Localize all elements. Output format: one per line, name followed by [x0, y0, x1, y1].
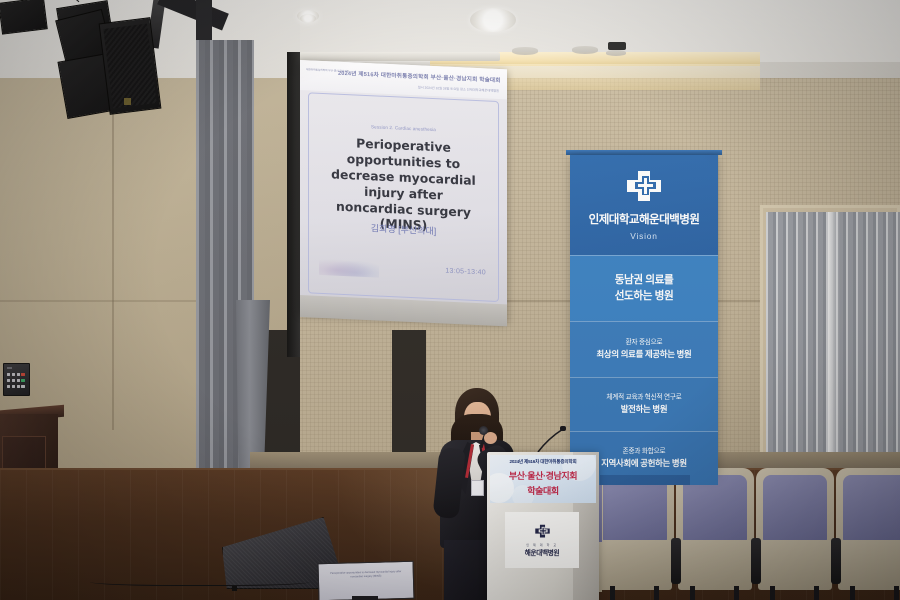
hospital-vision-banner: 인제대학교해운대백병원 Vision 동남권 의료를 선도하는 병원 환자 중심… — [570, 155, 718, 475]
chair-leg — [770, 586, 775, 600]
panel-button[interactable] — [7, 379, 10, 382]
banner-section-4-line-1: 존중과 화합으로 — [623, 447, 666, 457]
chair-leg — [814, 586, 819, 600]
chair-leg — [654, 586, 659, 600]
confidence-monitor-stand — [352, 596, 378, 600]
recessed-downlight — [300, 14, 316, 23]
auditorium-chair[interactable] — [676, 468, 754, 600]
ceiling-vent — [606, 50, 626, 56]
auditorium-chair[interactable] — [756, 468, 834, 600]
panel-button-row[interactable] — [7, 379, 25, 382]
panel-button[interactable] — [21, 385, 24, 388]
speaker-brand-badge — [124, 98, 131, 105]
banner-hospital-name: 인제대학교해운대백병원 — [570, 211, 718, 227]
projection-screen: 대한마취통증의학회 부산·울산·경남지회 2024년 제516차 대한마취통증의… — [300, 60, 507, 322]
banner-section-2: 환자 중심으로 최상의 의료를 제공하는 병원 — [570, 321, 718, 377]
chair-leg — [690, 586, 695, 600]
podium-logo-hospital: 해운대백병원 — [525, 547, 560, 557]
panel-button[interactable] — [12, 385, 15, 388]
ceiling-vent — [572, 46, 598, 54]
chair-seat — [678, 540, 752, 590]
chair-seat — [598, 540, 672, 590]
av-control-panel[interactable] — [3, 363, 30, 396]
ceiling-vent — [512, 47, 538, 55]
panel-button[interactable] — [17, 373, 20, 376]
slide-session-label: Session 2. Cardiac anesthesia — [309, 121, 498, 135]
banner-section-1: 동남권 의료를 선도하는 병원 — [570, 255, 718, 321]
panel-button[interactable] — [7, 373, 10, 376]
banner-section-3-line-2: 발전하는 병원 — [621, 403, 667, 415]
panel-button[interactable] — [12, 379, 15, 382]
chair-seat — [838, 540, 900, 590]
banner-section-3-line-1: 체계적 교육과 혁신적 연구로 — [606, 393, 681, 403]
screen-roller-case — [300, 52, 500, 61]
banner-section-1-line-2: 선도하는 병원 — [615, 289, 674, 304]
chair-cushion — [843, 475, 900, 541]
screen-side-edge — [287, 52, 300, 357]
chair-leg — [850, 586, 855, 600]
confidence-monitor: Perioperative opportunities to decrease … — [318, 561, 415, 600]
chair-armrest — [831, 538, 841, 584]
confidence-monitor-text: Perioperative opportunities to decrease … — [327, 570, 405, 580]
panel-button-row[interactable] — [7, 385, 25, 388]
panel-display — [7, 367, 12, 369]
stage-cable — [90, 576, 310, 586]
banner-section-4-line-2: 지역사회에 공헌하는 병원 — [601, 457, 687, 469]
ceiling-speaker — [0, 0, 48, 35]
auditorium-chair[interactable] — [596, 468, 674, 600]
panel-button[interactable] — [17, 379, 20, 382]
slide-decoration — [319, 257, 379, 278]
panel-button[interactable] — [17, 385, 20, 388]
banner-section-2-line-1: 환자 중심으로 — [626, 338, 663, 348]
chair-armrest — [751, 538, 761, 584]
panel-button-active[interactable] — [21, 379, 24, 382]
chair-leg — [610, 586, 615, 600]
chair-leg — [734, 586, 739, 600]
banner-stand-base — [600, 475, 690, 485]
podium-hospital-logo: 인 제 대 학 교 해운대백병원 — [505, 512, 579, 568]
banner-header: 인제대학교해운대백병원 Vision — [570, 155, 718, 255]
panel-button[interactable] — [12, 373, 15, 376]
conference-hall-photo: 대한마취통증의학회 부산·울산·경남지회 2024년 제516차 대한마취통증의… — [0, 0, 900, 600]
presenter-name-badge — [471, 480, 484, 496]
podium-banner: 2024년 제516차 대한마취통증의학회 부산·울산·경남지회 학술대회 — [490, 455, 596, 503]
panel-button-power[interactable] — [21, 373, 24, 376]
banner-section-1-line-1: 동남권 의료를 — [615, 273, 674, 288]
podium-banner-line-3: 학술대회 — [490, 484, 596, 497]
ceiling-sensor-icon — [608, 42, 626, 50]
medical-cross-icon — [624, 169, 664, 205]
auditorium-chair[interactable] — [836, 468, 900, 600]
ceiling-truss — [196, 0, 212, 44]
panel-button[interactable] — [7, 385, 10, 388]
banner-subtitle: Vision — [570, 231, 718, 241]
podium-banner-line-2: 부산·울산·경남지회 — [490, 469, 596, 482]
medical-cross-icon — [534, 523, 551, 540]
panel-button-row[interactable] — [7, 373, 25, 376]
podium-microphone — [536, 426, 566, 454]
slide-time: 13:05-13:40 — [445, 268, 486, 277]
chair-seat — [758, 540, 832, 590]
chair-armrest — [671, 538, 681, 584]
podium-banner-line-1: 2024년 제516차 대한마취통증의학회 — [490, 459, 596, 465]
slide-content-frame: Session 2. Cardiac anesthesia Perioperat… — [308, 92, 499, 302]
recessed-downlight — [470, 8, 516, 32]
banner-section-3: 체계적 교육과 혁신적 연구로 발전하는 병원 — [570, 377, 718, 431]
microphone-icon — [479, 426, 488, 435]
monitor-foot — [232, 586, 237, 591]
chair-cushion — [763, 475, 827, 541]
chair-leg — [894, 586, 899, 600]
banner-section-2-line-2: 최상의 의료를 제공하는 병원 — [597, 348, 692, 360]
